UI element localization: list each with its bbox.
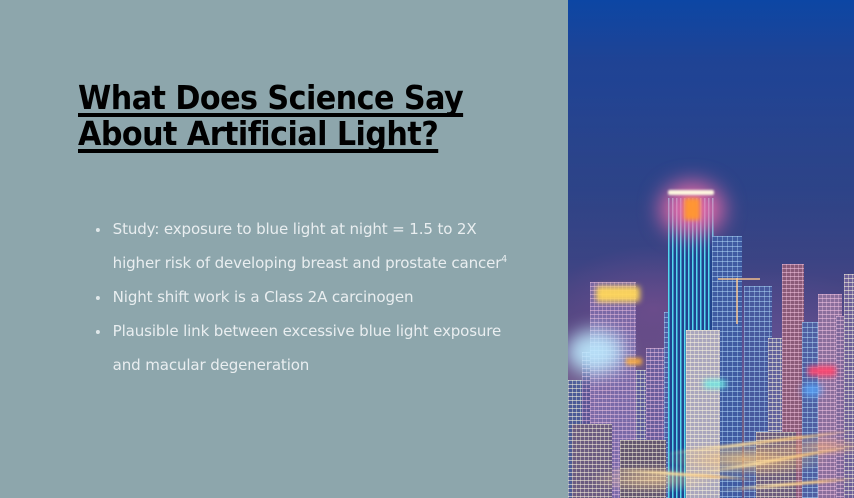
slide-bullet-list: Study: exposure to blue light at night =… (92, 212, 522, 382)
city-skyline-night-photo (568, 0, 854, 498)
bullet-item-1-footnote-marker: 4 (501, 254, 507, 265)
bullet-item-1: Study: exposure to blue light at night =… (92, 212, 516, 280)
bullet-item-3: Plausible link between excessive blue li… (92, 314, 516, 382)
slide-text-panel: What Does Science Say About Artificial L… (0, 0, 568, 498)
slide-title: What Does Science Say About Artificial L… (78, 80, 508, 152)
construction-crane-jib (718, 278, 760, 280)
construction-crane-mast (736, 278, 738, 324)
slide-title-line-2: About Artificial Light? (78, 116, 508, 152)
presentation-slide: What Does Science Say About Artificial L… (0, 0, 854, 498)
bullet-item-2: Night shift work is a Class 2A carcinoge… (92, 280, 516, 314)
slide-title-line-1: What Does Science Say (78, 80, 508, 116)
bullet-item-1-text: Study: exposure to blue light at night =… (113, 220, 502, 272)
bullet-item-2-text: Night shift work is a Class 2A carcinoge… (113, 288, 414, 306)
bullet-item-3-text: Plausible link between excessive blue li… (113, 322, 501, 374)
